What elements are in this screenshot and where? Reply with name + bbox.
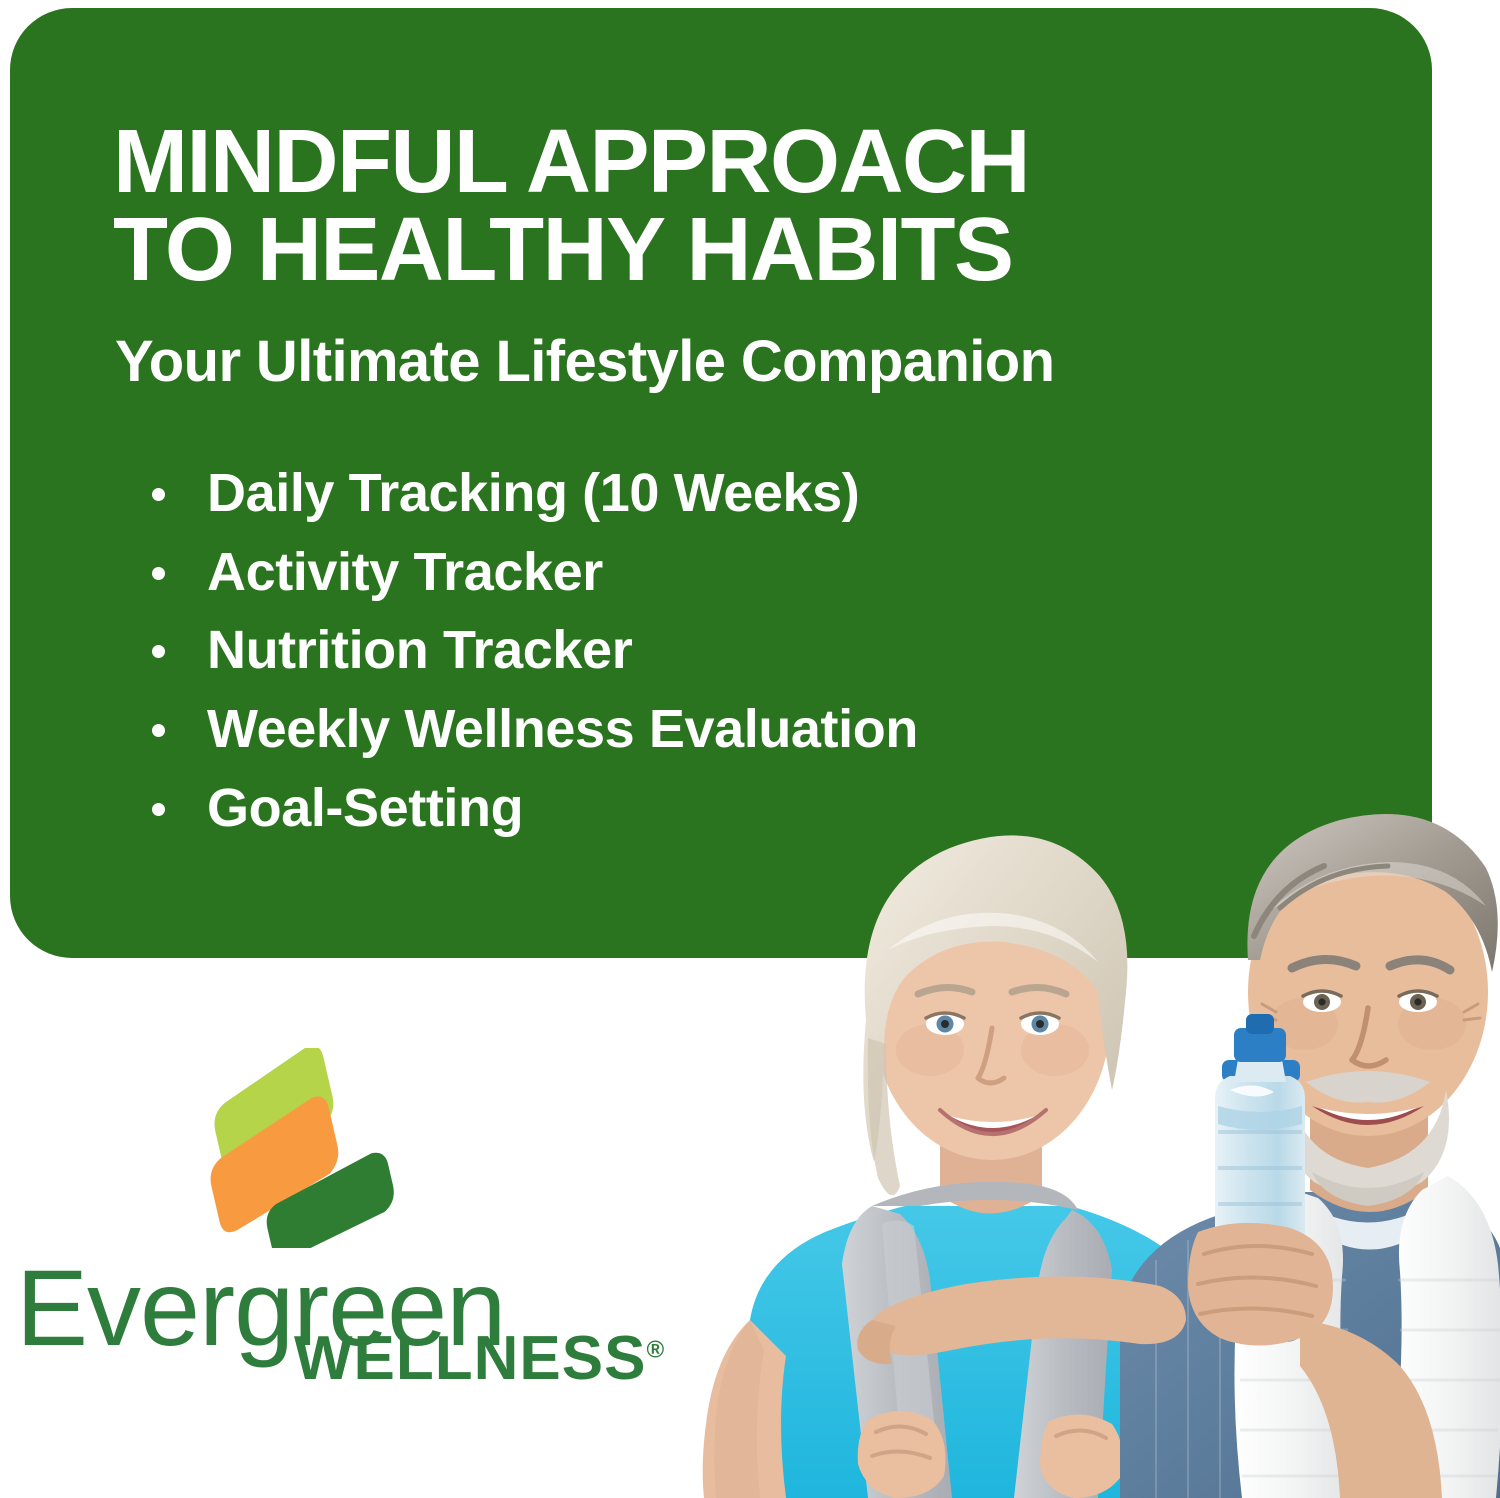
evergreen-leaf-icon [178,1048,410,1248]
headline-line-2: TO HEALTHY HABITS [113,206,1313,294]
feature-label: Goal-Setting [207,778,523,838]
registered-trademark-icon: ® [646,1336,664,1363]
senior-couple-photo [600,620,1500,1498]
feature-label: Activity Tracker [207,542,603,602]
product-feature-banner: MINDFUL APPROACH TO HEALTHY HABITS Your … [0,0,1500,1498]
headline-line-1: MINDFUL APPROACH [113,118,1313,206]
bullet-dot-icon [152,724,165,737]
page-title: MINDFUL APPROACH TO HEALTHY HABITS [113,118,1313,294]
bullet-dot-icon [152,803,165,816]
feature-label: Nutrition Tracker [207,620,632,680]
brand-name-secondary-text: WELLNESS [294,1324,646,1393]
bullet-dot-icon [152,645,165,658]
feature-label: Daily Tracking (10 Weeks) [207,463,859,523]
brand-name-secondary: WELLNESS® [294,1328,664,1390]
list-item: Activity Tracker [148,541,918,604]
bullet-dot-icon [152,488,165,501]
page-subtitle: Your Ultimate Lifestyle Companion [115,332,1054,393]
brand-wordmark: Evergreen WELLNESS® [16,1254,586,1414]
bullet-dot-icon [152,567,165,580]
list-item: Daily Tracking (10 Weeks) [148,462,918,525]
